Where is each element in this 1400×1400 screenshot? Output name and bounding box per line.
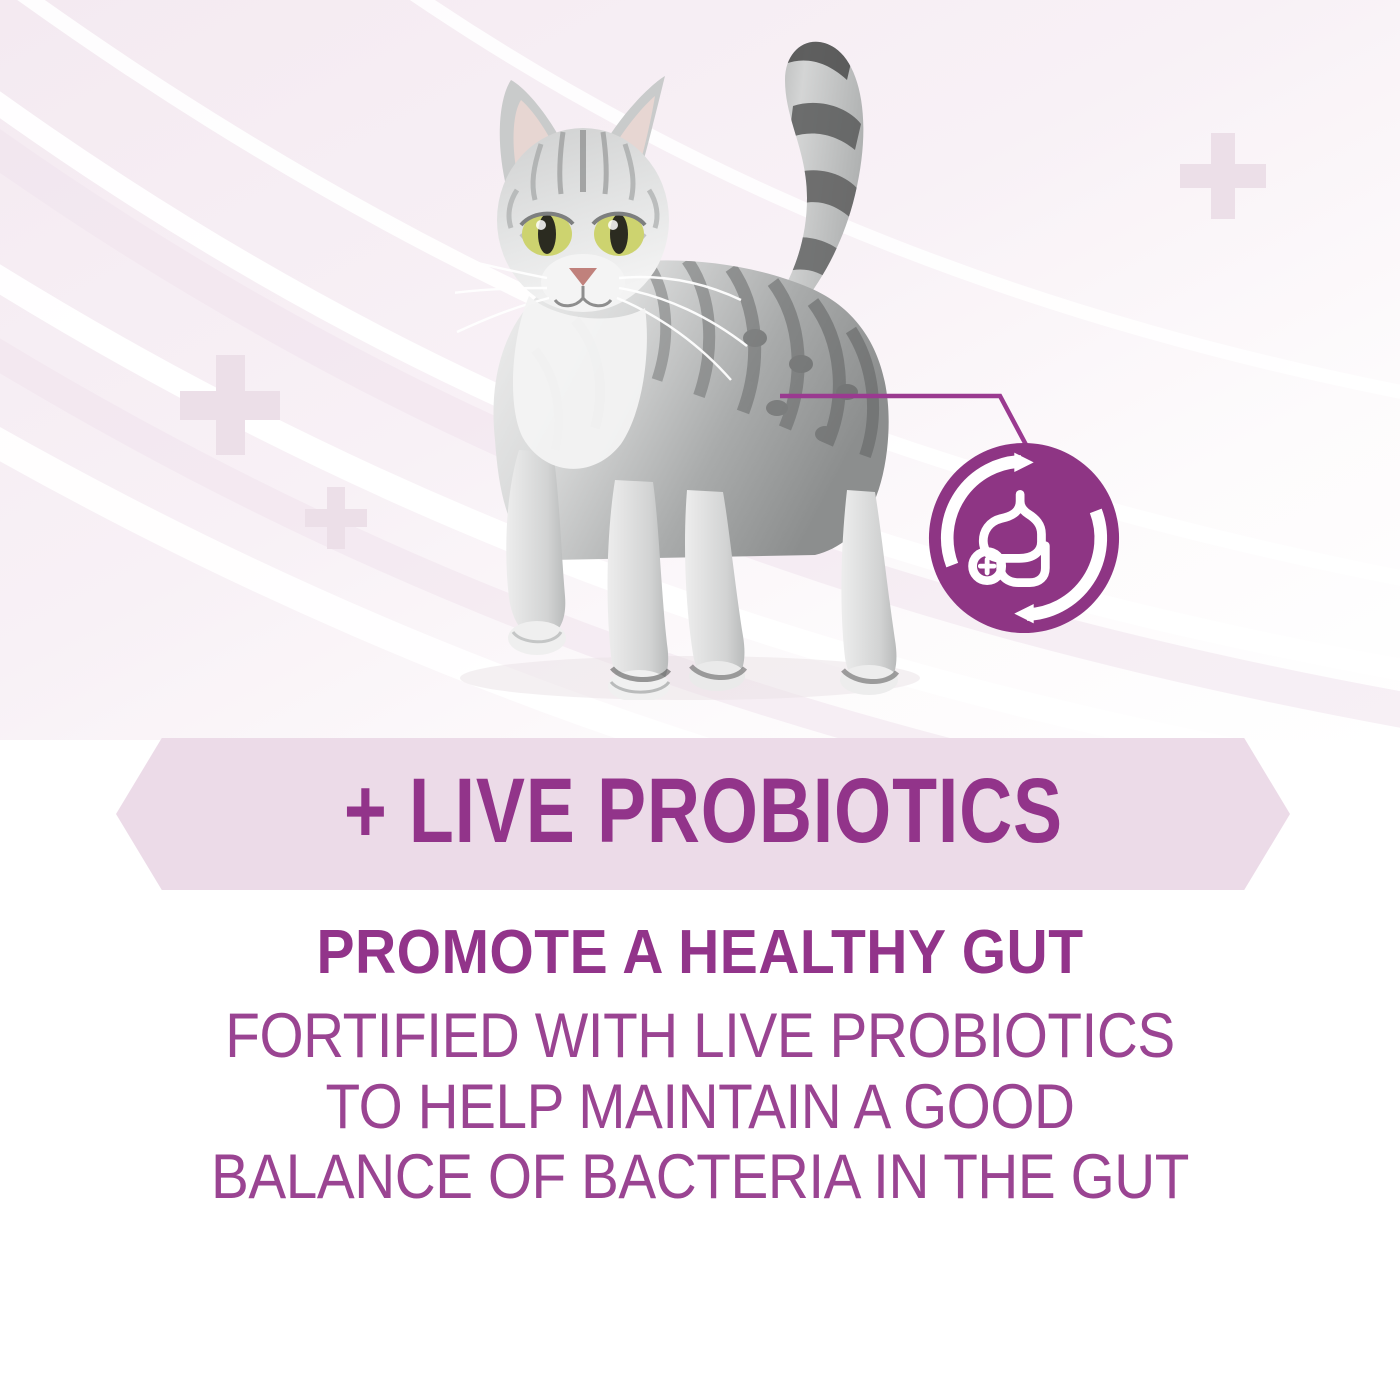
plus-left-small-icon <box>305 487 367 549</box>
live-probiotics-banner: + LIVE PROBIOTICS <box>116 738 1290 890</box>
plus-left-large-icon <box>180 355 280 455</box>
subcopy-line-3: BALANCE OF BACTERIA IN THE GUT <box>70 1142 1330 1213</box>
banner-label: + LIVE PROBIOTICS <box>343 765 1062 863</box>
subcopy: FORTIFIED WITH LIVE PROBIOTICS TO HELP M… <box>0 1001 1400 1213</box>
promo-card: + LIVE PROBIOTICS PROMOTE A HEALTHY GUT … <box>0 0 1400 1400</box>
headline: PROMOTE A HEALTHY GUT <box>56 920 1344 985</box>
copy-block: PROMOTE A HEALTHY GUT FORTIFIED WITH LIV… <box>0 920 1400 1213</box>
cat-photo <box>455 20 955 700</box>
subcopy-line-1: FORTIFIED WITH LIVE PROBIOTICS <box>70 1001 1330 1072</box>
badge-disc <box>929 443 1119 633</box>
plus-top-right-icon <box>1180 133 1266 219</box>
probiotic-gut-badge <box>927 441 1121 635</box>
cat-muzzle <box>541 254 625 310</box>
subcopy-line-2: TO HELP MAINTAIN A GOOD <box>70 1072 1330 1143</box>
